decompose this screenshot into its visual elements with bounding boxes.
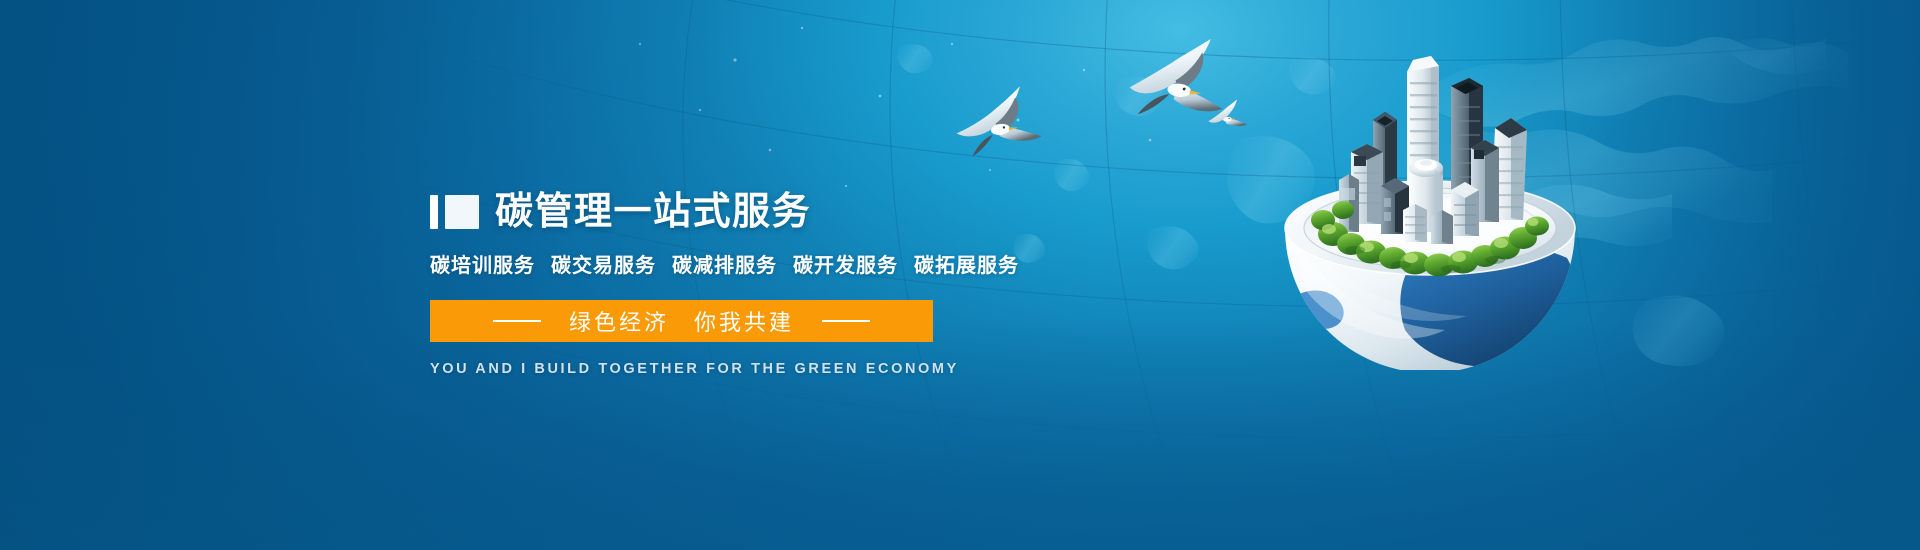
service-list: 碳培训服务 碳交易服务 碳减排服务 碳开发服务 碳拓展服务	[430, 249, 1130, 278]
service-item-5[interactable]: 碳拓展服务	[914, 249, 1019, 278]
service-item-4[interactable]: 碳开发服务	[793, 249, 898, 278]
bar-square-mark-icon	[430, 195, 479, 229]
banner-copy: 碳管理一站式服务 碳培训服务 碳交易服务 碳减排服务 碳开发服务 碳拓展服务 绿…	[430, 188, 1130, 377]
globe-city-bowl-illustration	[1255, 20, 1605, 370]
left-rule-icon	[493, 320, 541, 322]
hero-banner: 碳管理一站式服务 碳培训服务 碳交易服务 碳减排服务 碳开发服务 碳拓展服务 绿…	[0, 0, 1920, 550]
right-rule-icon	[822, 320, 870, 322]
slogan-text: 绿色经济 你我共建	[541, 305, 822, 337]
slogan-banner: 绿色经济 你我共建	[430, 300, 933, 342]
service-item-3[interactable]: 碳减排服务	[672, 249, 777, 278]
service-item-2[interactable]: 碳交易服务	[551, 249, 656, 278]
page-title: 碳管理一站式服务	[495, 193, 811, 231]
service-item-1[interactable]: 碳培训服务	[430, 249, 535, 278]
headline-row: 碳管理一站式服务	[430, 188, 1130, 236]
english-tagline: YOU AND I BUILD TOGETHER FOR THE GREEN E…	[430, 361, 1130, 377]
